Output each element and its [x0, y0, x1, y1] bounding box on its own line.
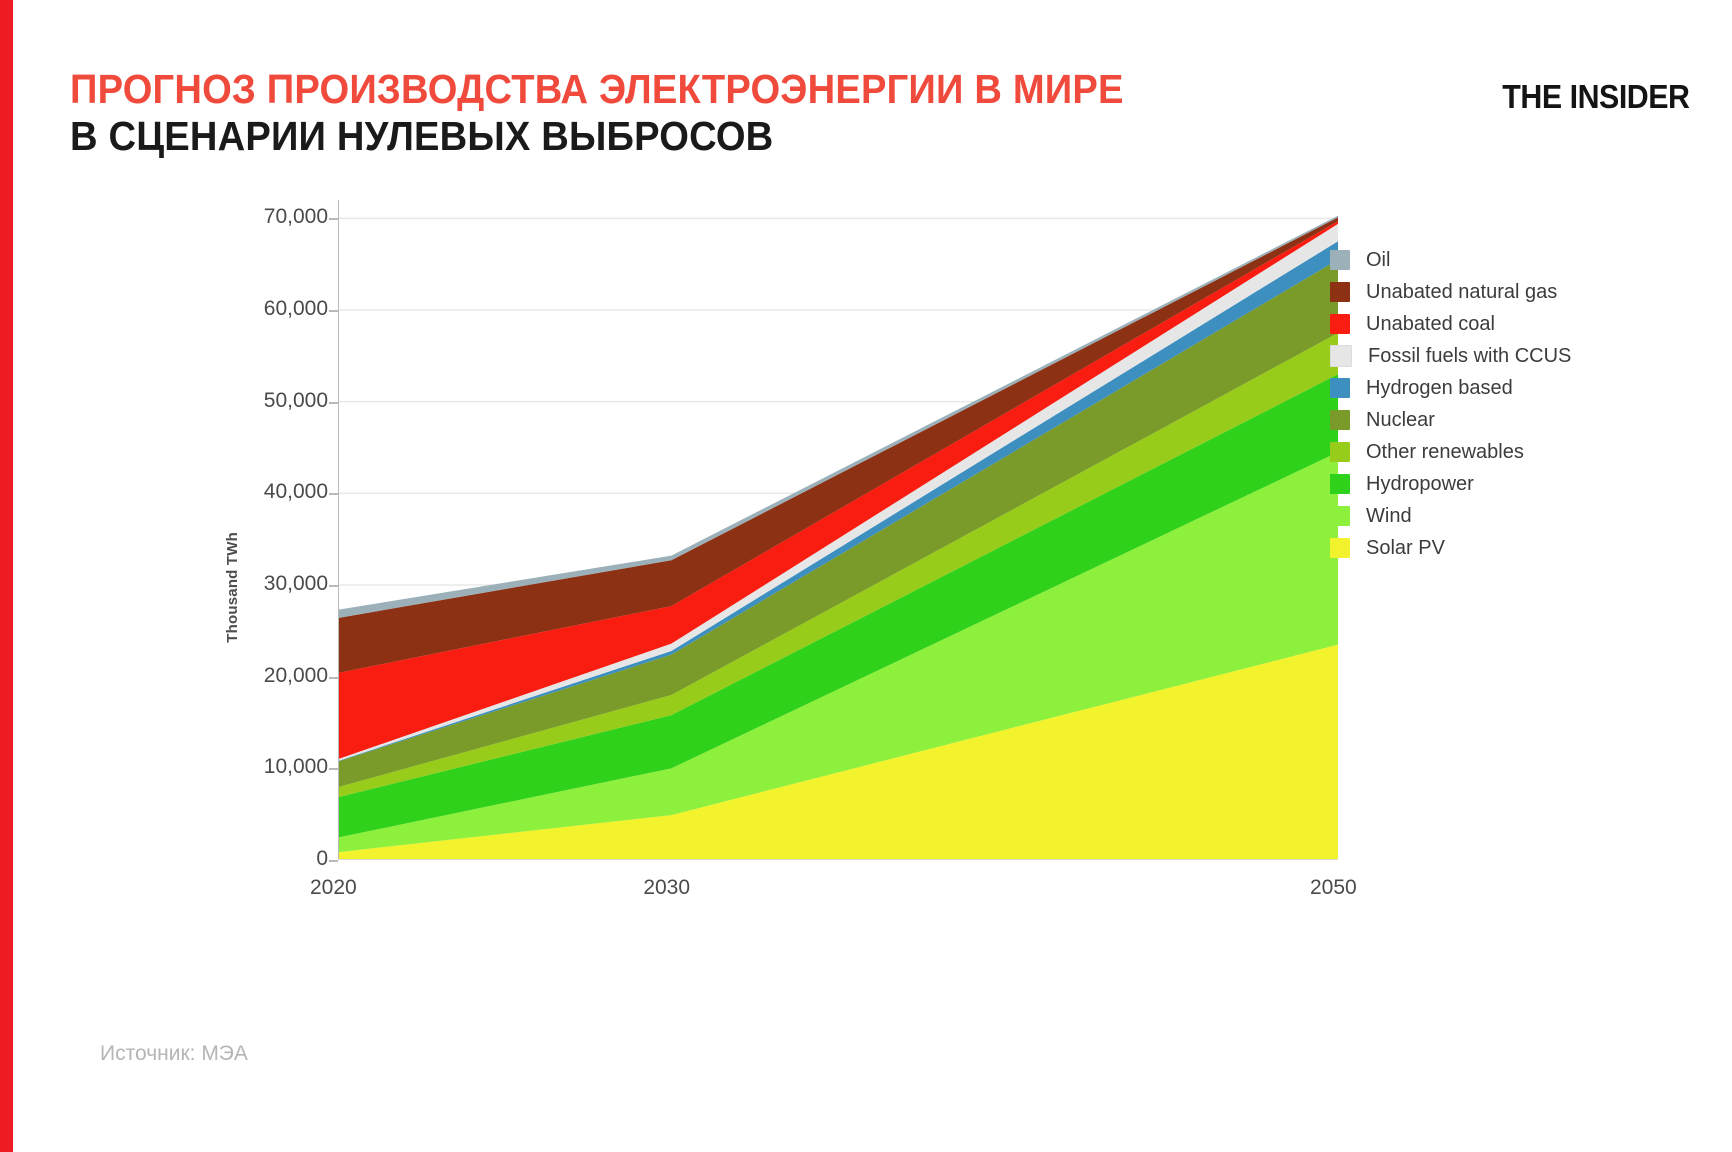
legend-label: Unabated natural gas	[1366, 282, 1557, 302]
legend-swatch-icon	[1330, 250, 1350, 270]
legend-label: Nuclear	[1366, 410, 1435, 430]
y-tick-mark	[329, 585, 338, 587]
legend-item[interactable]: Solar PV	[1330, 532, 1680, 564]
y-tick-mark	[329, 310, 338, 312]
y-tick-label: 40,000	[264, 480, 328, 504]
legend-label: Oil	[1366, 250, 1390, 270]
x-tick-label: 2050	[1310, 876, 1357, 900]
legend-swatch-icon	[1330, 506, 1350, 526]
y-tick-mark	[329, 768, 338, 770]
legend-label: Unabated coal	[1366, 314, 1495, 334]
legend-swatch-icon	[1330, 442, 1350, 462]
legend-item[interactable]: Wind	[1330, 500, 1680, 532]
header: ПРОГНОЗ ПРОИЗВОДСТВА ЭЛЕКТРОЭНЕРГИИ В МИ…	[70, 66, 1670, 186]
y-tick-label: 70,000	[264, 205, 328, 229]
y-tick-mark	[329, 402, 338, 404]
legend-item[interactable]: Fossil fuels with CCUS	[1330, 340, 1680, 372]
x-axis-tick-labels: 202020302050	[338, 868, 1338, 908]
legend-label: Wind	[1366, 506, 1412, 526]
legend-swatch-icon	[1330, 538, 1350, 558]
x-tick-label: 2020	[310, 876, 357, 900]
chart-legend: OilUnabated natural gasUnabated coalFoss…	[1330, 244, 1680, 564]
y-tick-mark	[329, 677, 338, 679]
y-tick-mark	[329, 860, 338, 862]
legend-item[interactable]: Other renewables	[1330, 436, 1680, 468]
y-tick-label: 60,000	[264, 297, 328, 321]
legend-swatch-icon	[1330, 345, 1352, 367]
legend-swatch-icon	[1330, 410, 1350, 430]
legend-label: Hydrogen based	[1366, 378, 1513, 398]
legend-swatch-icon	[1330, 282, 1350, 302]
plot-area	[338, 200, 1338, 860]
y-tick-label: 10,000	[264, 755, 328, 779]
page-title-line-1: ПРОГНОЗ ПРОИЗВОДСТВА ЭЛЕКТРОЭНЕРГИИ В МИ…	[70, 66, 1558, 113]
area-series-group	[338, 216, 1338, 860]
legend-label: Hydropower	[1366, 474, 1474, 494]
left-accent-bar	[0, 0, 13, 1152]
y-tick-mark	[329, 218, 338, 220]
legend-swatch-icon	[1330, 474, 1350, 494]
legend-item[interactable]: Unabated coal	[1330, 308, 1680, 340]
brand-logo: THE INSIDER	[1503, 78, 1690, 116]
stacked-area-svg	[338, 200, 1338, 860]
legend-item[interactable]: Nuclear	[1330, 404, 1680, 436]
y-axis-tick-labels: 010,00020,00030,00040,00050,00060,00070,…	[228, 200, 328, 860]
y-tick-label: 0	[316, 847, 328, 871]
legend-label: Other renewables	[1366, 442, 1524, 462]
legend-swatch-icon	[1330, 314, 1350, 334]
legend-item[interactable]: Unabated natural gas	[1330, 276, 1680, 308]
x-tick-label: 2030	[643, 876, 690, 900]
legend-item[interactable]: Oil	[1330, 244, 1680, 276]
legend-item[interactable]: Hydropower	[1330, 468, 1680, 500]
source-note: Источник: МЭА	[100, 1042, 248, 1066]
y-tick-label: 30,000	[264, 572, 328, 596]
page-title-line-2: В СЦЕНАРИИ НУЛЕВЫХ ВЫБРОСОВ	[70, 113, 1558, 160]
legend-label: Fossil fuels with CCUS	[1368, 346, 1571, 366]
y-tick-label: 50,000	[264, 389, 328, 413]
y-tick-mark	[329, 493, 338, 495]
legend-item[interactable]: Hydrogen based	[1330, 372, 1680, 404]
legend-label: Solar PV	[1366, 538, 1445, 558]
chart-container: Thousand TWh 010,00020,00030,00040,00050…	[228, 200, 1478, 940]
y-tick-label: 20,000	[264, 664, 328, 688]
legend-swatch-icon	[1330, 378, 1350, 398]
